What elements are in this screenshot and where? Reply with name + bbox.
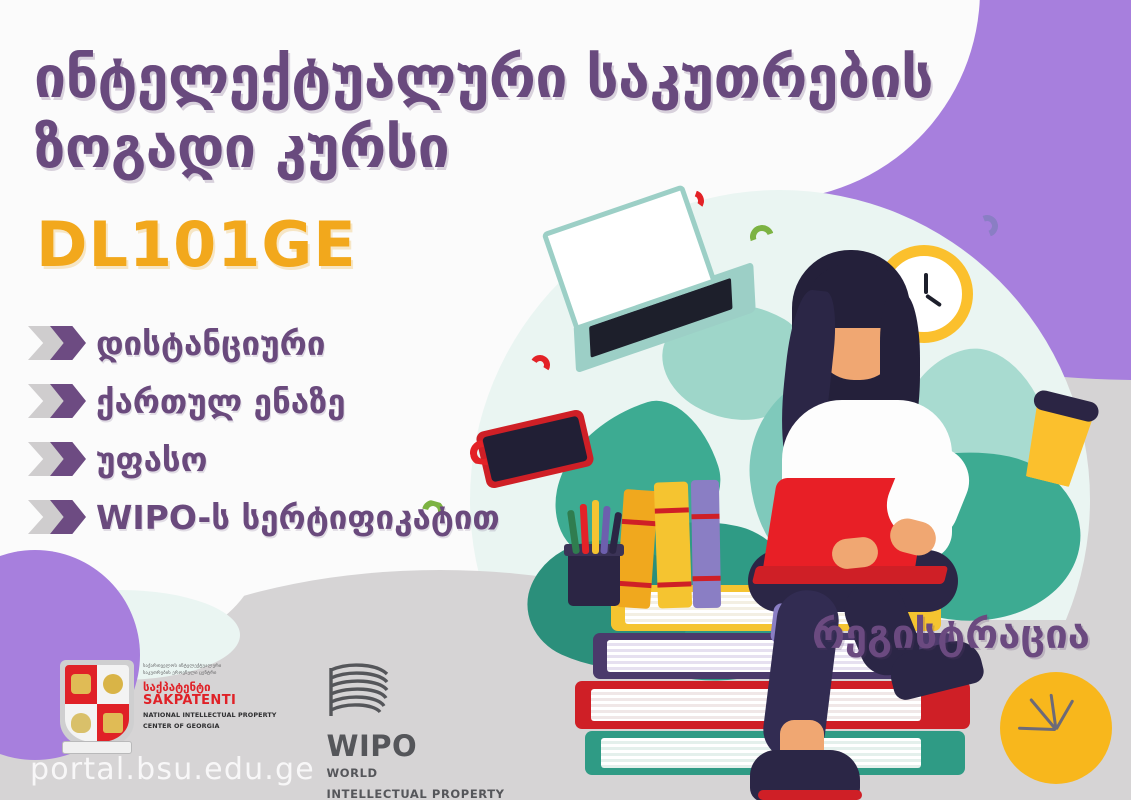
wipo-logo: WIPO WORLD INTELLECTUAL PROPERTY ORGANIZ… [327,660,505,800]
wipo-globe-icon [327,662,393,724]
list-item-label: უფასო [96,440,208,479]
sakpatenti-en-name: SAKPATENTI [143,694,277,709]
list-item-label: დისტანციური [96,324,325,363]
course-code: DL101GE [36,208,357,281]
sakpatenti-en-sub1: NATIONAL INTELLECTUAL PROPERTY [143,711,277,720]
page-title: ინტელექტუალური საკუთრების ზოგადი კურსი [34,44,1044,183]
sakpatenti-ge-name: საქპატენტი [143,680,277,694]
wipo-name: WIPO [327,732,505,761]
sakpatenti-coat-of-arms-icon [60,660,134,748]
list-item: WIPO-ს სერტიფიკატით [28,488,548,546]
pencil-cup-icon [568,550,620,606]
shoe-left [750,750,860,800]
list-item-label: WIPO-ს სერტიფიკატით [96,498,500,537]
wipo-sub1: WORLD [327,765,505,782]
double-chevron-icon [28,326,86,360]
standing-book-yellow [654,481,692,608]
wipo-sub2: INTELLECTUAL PROPERTY [327,786,505,800]
sakpatenti-ge-line1: საქართველოს ინტელექტუალური [143,664,277,671]
standing-book-purple [691,480,721,608]
registration-label[interactable]: რეგისტრაცია [812,612,1090,658]
list-item-label: ქართულ ენაზე [96,382,346,421]
promotional-poster: ინტელექტუალური საკუთრების ზოგადი კურსი D… [0,0,1131,800]
logo-row: საქართველოს ინტელექტუალური საკუთრების ერ… [60,660,505,800]
sakpatenti-en-sub2: CENTER OF GEORGIA [143,722,277,731]
list-item: უფასო [28,430,548,488]
confetti-purple [973,212,1001,240]
double-chevron-icon [28,442,86,476]
double-chevron-icon [28,384,86,418]
double-chevron-icon [28,500,86,534]
sakpatenti-logo: საქართველოს ინტელექტუალური საკუთრების ერ… [60,660,277,748]
pencil-yellow [592,500,599,554]
student-woman-illustration [740,250,1020,730]
list-item: ქართულ ენაზე [28,372,548,430]
list-item: დისტანციური [28,314,548,372]
confetti-green [747,222,776,251]
feature-list: დისტანციური ქართულ ენაზე უფასო WIPO-ს სე… [28,314,548,546]
sakpatenti-ge-line2: საკუთრების ეროვნული ცენტრი [143,671,277,678]
